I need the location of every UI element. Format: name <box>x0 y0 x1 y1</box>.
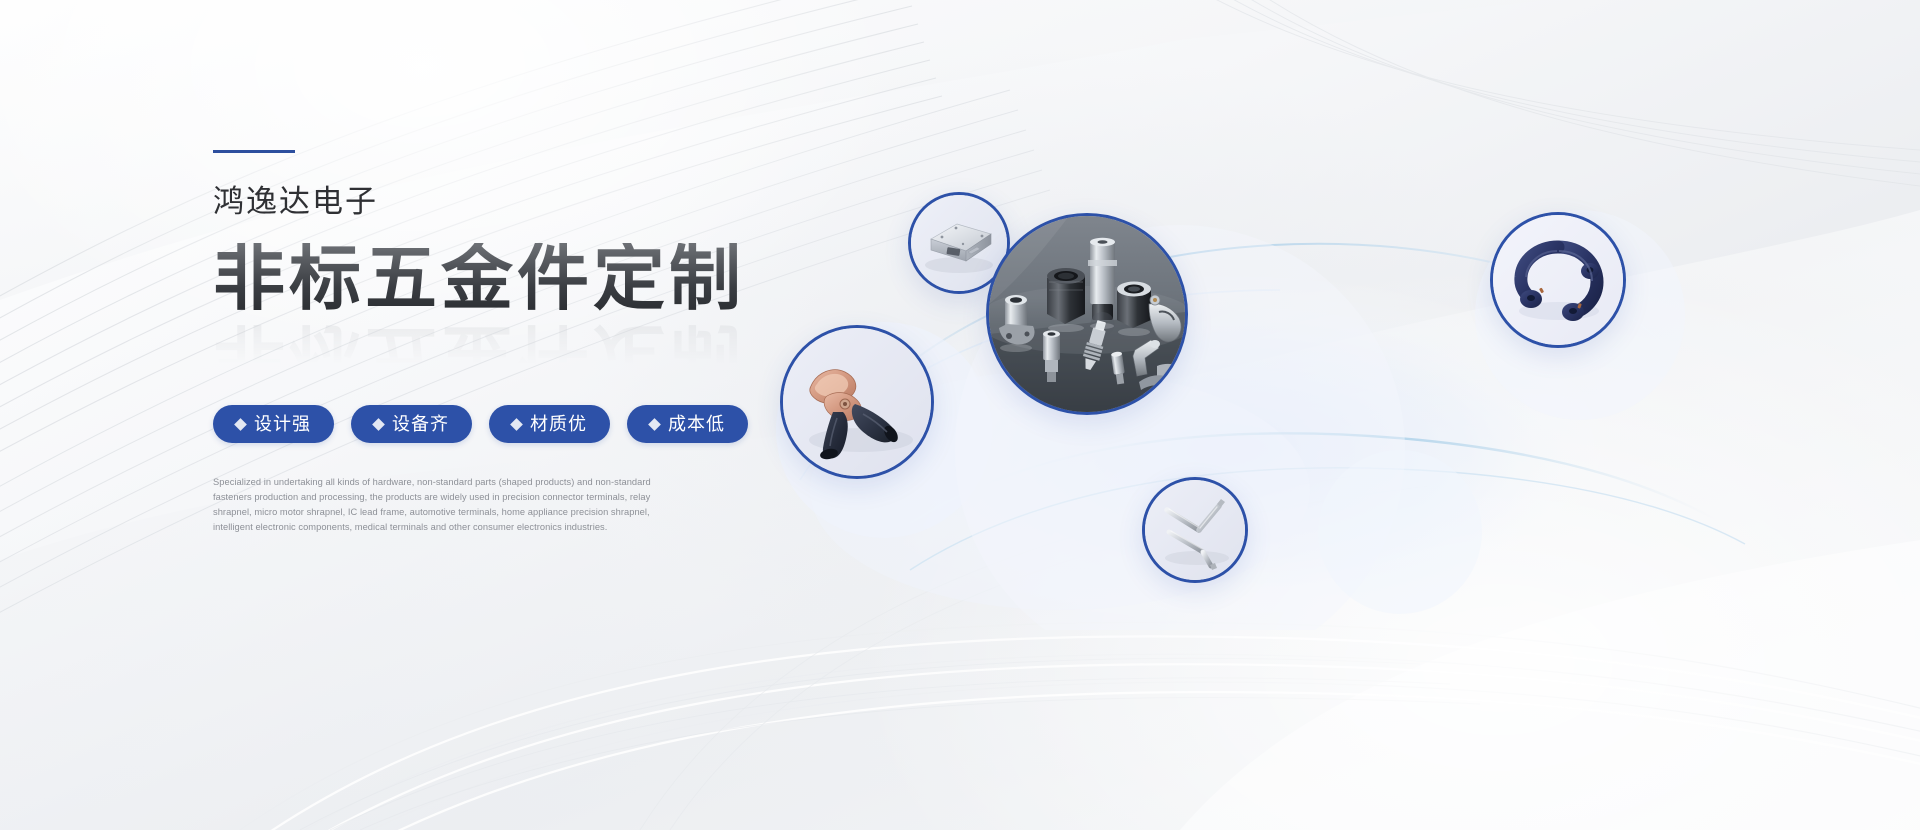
product-imagery-cluster <box>760 150 1800 630</box>
page-title: 非标五金件定制 <box>213 243 745 315</box>
hero-text-column: 鸿逸达电子 非标五金件定制 非标五金件定制 设计强 设备齐 材质优 成本低 <box>213 150 913 544</box>
bubble-retaining-clip-ring[interactable] <box>1490 212 1626 348</box>
feature-pill-equipment[interactable]: 设备齐 <box>351 405 472 443</box>
accent-rule <box>213 150 295 153</box>
description-paragraph: Specialized in undertaking all kinds of … <box>213 475 683 535</box>
feature-pill-row: 设计强 设备齐 材质优 成本低 <box>213 405 913 443</box>
feature-pill-label: 成本低 <box>668 415 725 433</box>
bubble-hex-allen-keys[interactable] <box>1142 477 1248 583</box>
headline-reflection: 非标五金件定制 <box>213 320 745 392</box>
feature-pill-design[interactable]: 设计强 <box>213 405 334 443</box>
feature-pill-label: 设备齐 <box>392 415 449 433</box>
diamond-icon <box>510 418 523 431</box>
headline-wrapper: 非标五金件定制 非标五金件定制 <box>213 243 913 365</box>
diamond-icon <box>372 418 385 431</box>
feature-pill-label: 设计强 <box>254 415 311 433</box>
company-name: 鸿逸达电子 <box>213 186 913 217</box>
feature-pill-label: 材质优 <box>530 415 587 433</box>
feature-pill-material[interactable]: 材质优 <box>489 405 610 443</box>
hex-allen-keys-icon <box>1145 480 1245 580</box>
diamond-icon <box>648 418 661 431</box>
hero-banner: 鸿逸达电子 非标五金件定制 非标五金件定制 设计强 设备齐 材质优 成本低 <box>0 0 1920 830</box>
precision-connector-parts-icon <box>989 216 1185 412</box>
diamond-icon <box>234 418 247 431</box>
feature-pill-cost[interactable]: 成本低 <box>627 405 748 443</box>
retaining-clip-ring-icon <box>1493 215 1623 345</box>
bubble-precision-connector-parts[interactable] <box>986 213 1188 415</box>
